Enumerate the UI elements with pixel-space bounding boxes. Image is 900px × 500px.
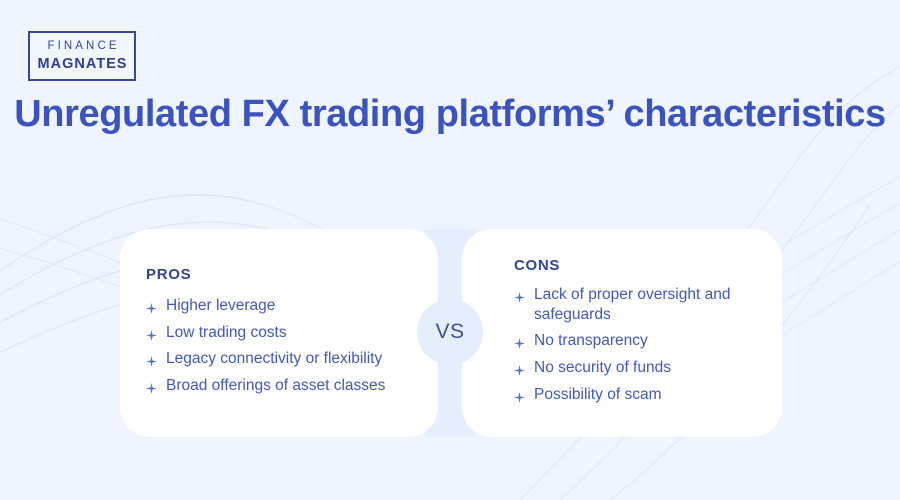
list-item-label: Broad offerings of asset classes [166, 376, 412, 396]
list-item-label: Higher leverage [166, 296, 412, 316]
sparkle-icon [514, 362, 525, 373]
list-item-label: Legacy connectivity or flexibility [166, 349, 412, 369]
sparkle-icon [514, 389, 525, 400]
versus-label: VS [435, 320, 464, 344]
list-item-label: Lack of proper oversight and safeguards [534, 285, 756, 324]
versus-badge: VS [417, 299, 483, 365]
sparkle-icon [514, 289, 525, 300]
sparkle-icon [146, 380, 157, 391]
pros-card-heading: PROS [146, 266, 412, 283]
list-item: Lack of proper oversight and safeguards [514, 285, 756, 324]
sparkle-icon [146, 327, 157, 338]
list-item: No security of funds [514, 358, 756, 378]
list-item: Low trading costs [146, 323, 412, 343]
pros-list: Higher leverage Low trading costs Legacy… [146, 296, 412, 396]
list-item-label: Low trading costs [166, 323, 412, 343]
list-item-label: No transparency [534, 331, 756, 351]
cons-card-heading: CONS [514, 257, 756, 274]
list-item-label: No security of funds [534, 358, 756, 378]
pros-card: PROS Higher leverage Low trading costs [120, 229, 438, 437]
logo-line-magnates: MAGNATES [37, 57, 128, 72]
logo-line-finance: FINANCE [44, 41, 119, 53]
finance-magnates-logo[interactable]: FINANCE MAGNATES [28, 31, 136, 81]
list-item: Legacy connectivity or flexibility [146, 349, 412, 369]
cons-list: Lack of proper oversight and safeguards … [514, 285, 756, 404]
list-item-label: Possibility of scam [534, 385, 756, 405]
list-item: No transparency [514, 331, 756, 351]
sparkle-icon [146, 300, 157, 311]
infographic-canvas: FINANCE MAGNATES Unregulated FX trading … [0, 0, 900, 500]
sparkle-icon [514, 335, 525, 346]
sparkle-icon [146, 353, 157, 364]
list-item: Possibility of scam [514, 385, 756, 405]
list-item: Higher leverage [146, 296, 412, 316]
list-item: Broad offerings of asset classes [146, 376, 412, 396]
page-title: Unregulated FX trading platforms’ charac… [0, 92, 900, 136]
cons-card: CONS Lack of proper oversight and safegu… [462, 229, 782, 437]
